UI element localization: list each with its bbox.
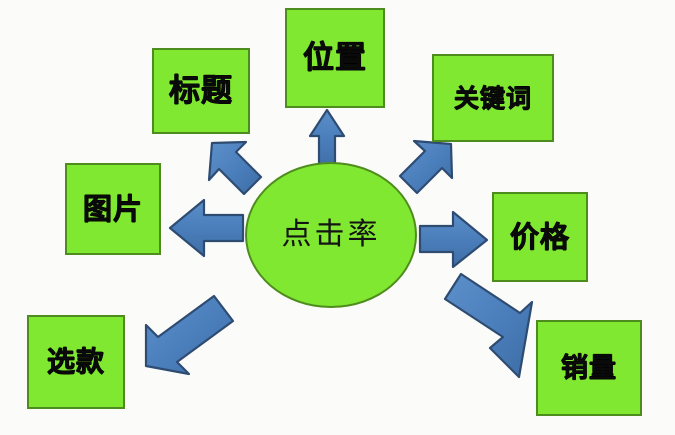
node-center-label: 点击率 bbox=[282, 220, 381, 250]
node-keyword[interactable]: 关键词 bbox=[432, 54, 554, 142]
node-image-label: 图片 bbox=[83, 195, 143, 224]
click-through-rate-diagram: 标题 位置 关键词 图片 价格 选款 销量 点击率 bbox=[0, 0, 675, 435]
arrow-up bbox=[310, 110, 344, 168]
arrow-right bbox=[420, 212, 487, 267]
node-sales-volume-label: 销量 bbox=[561, 355, 617, 382]
arrow-down-left bbox=[146, 296, 233, 374]
arrow-up-right bbox=[400, 141, 452, 193]
node-style-selection-label: 选款 bbox=[47, 348, 105, 376]
node-title[interactable]: 标题 bbox=[152, 48, 250, 134]
node-price[interactable]: 价格 bbox=[492, 192, 588, 282]
node-price-label: 价格 bbox=[510, 223, 570, 252]
node-image[interactable]: 图片 bbox=[65, 163, 161, 255]
node-title-label: 标题 bbox=[169, 76, 233, 107]
node-position[interactable]: 位置 bbox=[285, 8, 385, 108]
node-keyword-label: 关键词 bbox=[454, 86, 532, 111]
arrow-up-left bbox=[209, 142, 261, 194]
arrow-down-right bbox=[445, 274, 532, 377]
node-center-click-through-rate[interactable]: 点击率 bbox=[245, 162, 417, 308]
arrow-left bbox=[170, 200, 243, 256]
node-style-selection[interactable]: 选款 bbox=[27, 315, 125, 409]
node-sales-volume[interactable]: 销量 bbox=[536, 320, 642, 416]
node-position-label: 位置 bbox=[303, 43, 367, 74]
